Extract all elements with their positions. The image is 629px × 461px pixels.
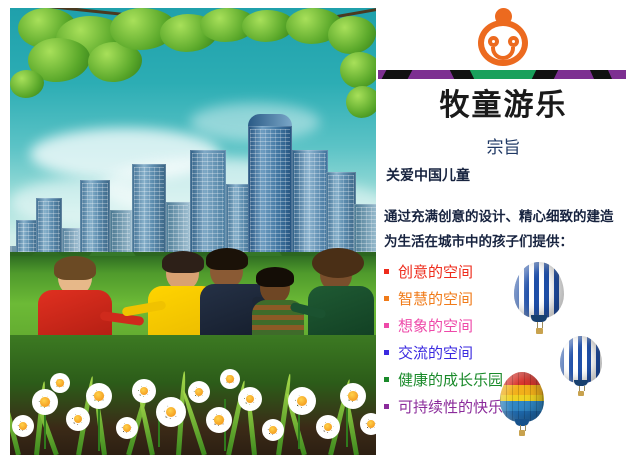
flower-bed	[10, 335, 376, 455]
bullet-marker	[384, 404, 389, 409]
balloon-envelope	[560, 336, 602, 383]
daisy-flower	[86, 383, 112, 409]
balloon-basket	[536, 328, 543, 334]
daisy-flower	[206, 407, 232, 433]
daisy-flower	[316, 415, 340, 439]
bullet-marker	[384, 350, 389, 355]
list-item: 创意的空间	[384, 258, 534, 285]
bullet-marker	[384, 377, 389, 382]
balloon-basket	[519, 430, 525, 436]
daisy-flower	[156, 397, 186, 427]
balloon-envelope	[500, 372, 544, 422]
bullet-marker	[384, 296, 389, 301]
list-item-label: 可持续性的快乐	[398, 396, 503, 417]
bullet-marker	[384, 323, 389, 328]
daisy-flower	[340, 383, 366, 409]
page-subtitle: 宗旨	[378, 133, 629, 158]
bullet-marker	[384, 269, 389, 274]
lead-statement: 关爱中国儿童	[386, 165, 629, 185]
eye-right	[508, 36, 519, 47]
daisy-flower	[238, 387, 262, 411]
list-item: 交流的空间	[384, 339, 534, 366]
balloon-envelope	[514, 262, 564, 318]
rainbow-balloon	[500, 372, 544, 436]
daisy-flower	[12, 415, 34, 437]
balloon-basket	[578, 391, 584, 396]
daisy-flower	[262, 419, 284, 441]
daisy-flower	[188, 381, 210, 403]
daisy-flower	[288, 387, 316, 415]
list-item-label: 想象的空间	[398, 315, 473, 336]
list-item-label: 创意的空间	[398, 261, 473, 282]
ribbon-black-accent	[382, 70, 413, 79]
body-paragraph-1: 通过充满创意的设计、精心细致的建造	[384, 205, 629, 225]
list-item: 智慧的空间	[384, 285, 534, 312]
body-paragraph-2: 为生活在城市中的孩子们提供：	[384, 230, 629, 250]
list-item: 想象的空间	[384, 312, 534, 339]
daisy-flower	[66, 407, 90, 431]
content-panel: 牧童游乐 宗旨 关爱中国儿童 通过充满创意的设计、精心细致的建造 为生活在城市中…	[378, 0, 629, 461]
ribbon-black-accent	[590, 70, 612, 79]
color-ribbon-divider	[378, 70, 626, 79]
daisy-flower	[116, 417, 138, 439]
daisy-flower	[360, 413, 376, 435]
ribbon-black-accent	[450, 70, 474, 79]
eye-left	[488, 36, 499, 47]
daisy-flower	[132, 379, 156, 403]
list-item-label: 交流的空间	[398, 342, 473, 363]
daisy-flower	[220, 369, 240, 389]
daisy-flower	[50, 373, 70, 393]
blue-striped-balloon-small	[560, 336, 602, 396]
blue-striped-balloon-large	[514, 262, 564, 334]
presentation-slide: 牧童游乐 宗旨 关爱中国儿童 通过充满创意的设计、精心细致的建造 为生活在城市中…	[0, 0, 629, 461]
skyscraper-cap	[248, 114, 292, 126]
list-item-label: 智慧的空间	[398, 288, 473, 309]
list-item-label: 健康的成长乐园	[398, 369, 503, 390]
ribbon-black-accent	[532, 70, 558, 79]
smiling-baby-face-icon	[474, 6, 532, 66]
page-title: 牧童游乐	[378, 80, 629, 124]
children-playing-in-city-park-photo	[10, 8, 376, 455]
